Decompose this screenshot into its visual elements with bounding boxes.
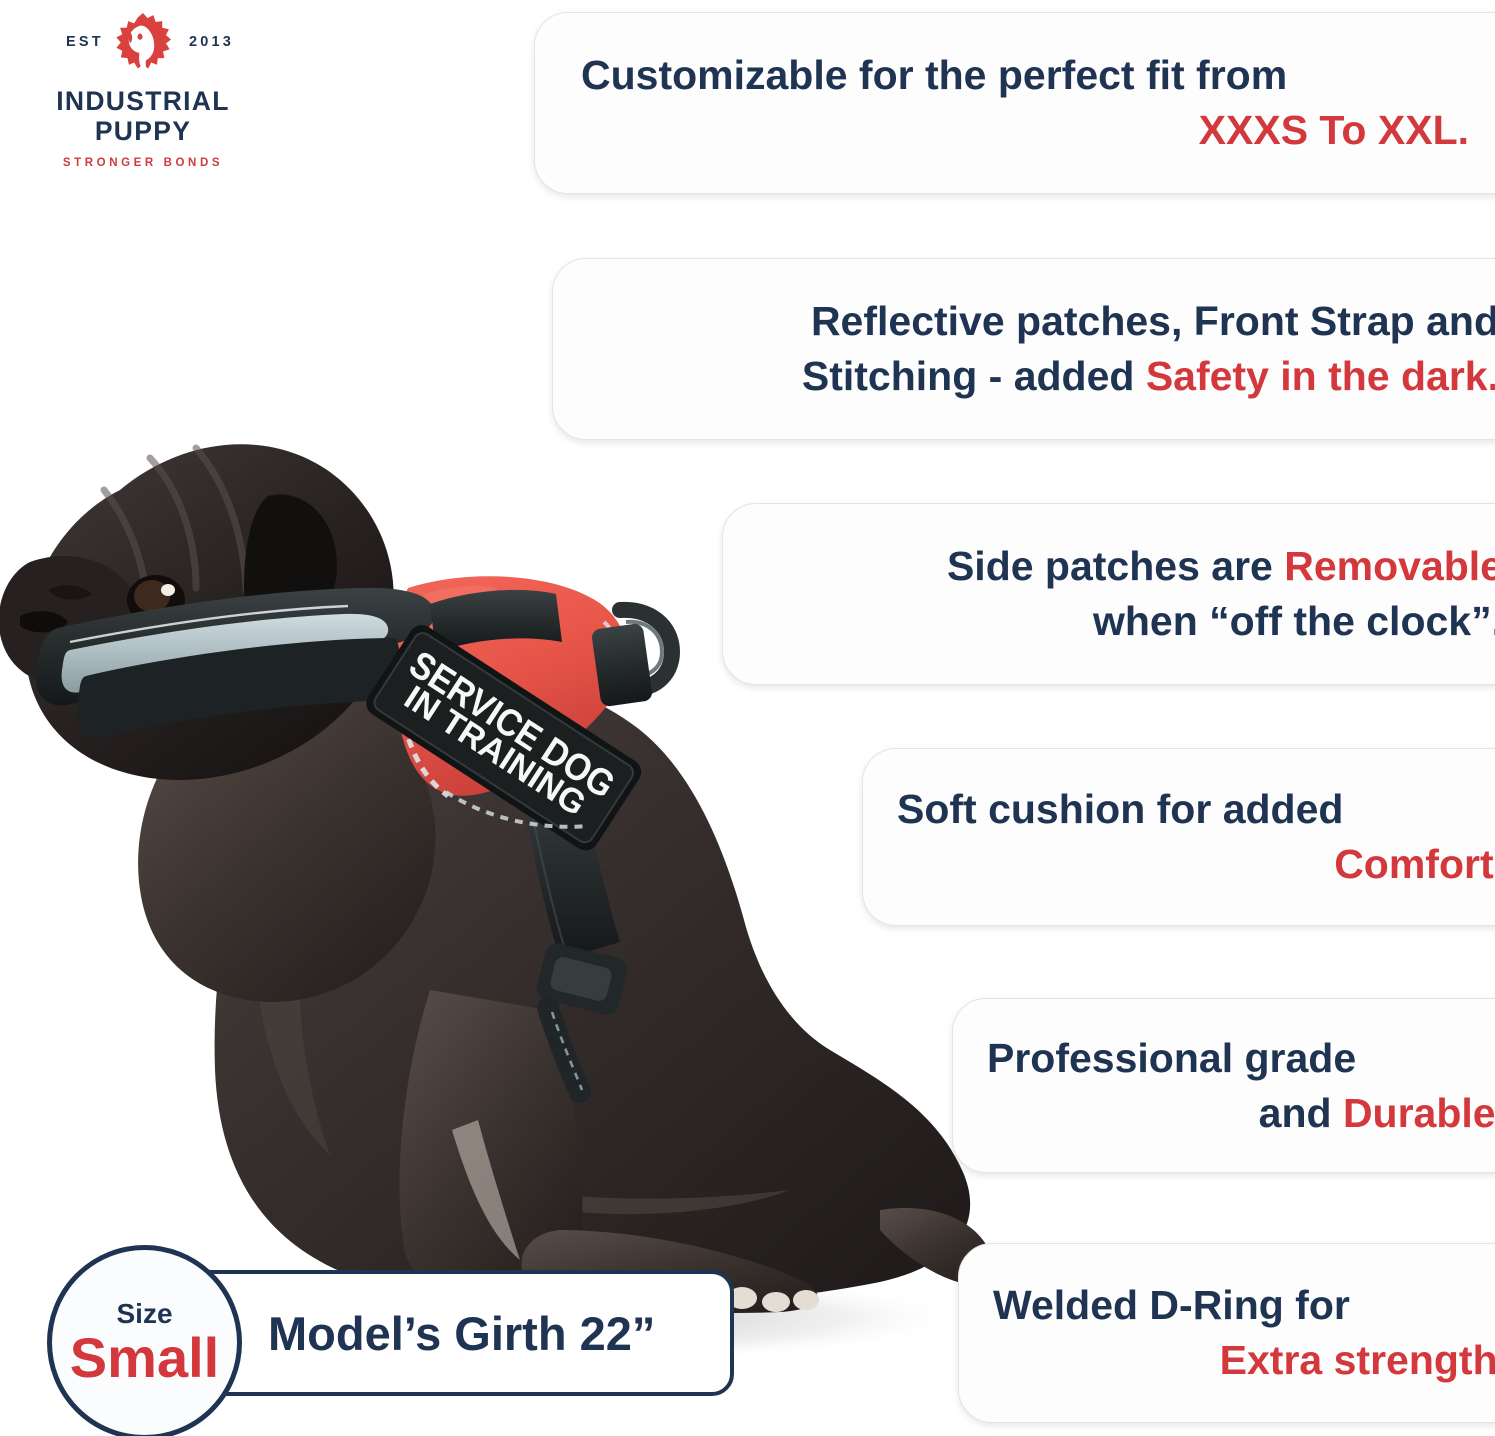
logo-name-line-1: INDUSTRIAL bbox=[18, 88, 268, 115]
callout-welded-d-ring: Welded D-Ring for Extra strength. bbox=[958, 1243, 1495, 1423]
callout-1-line-2: XXXS To XXL. bbox=[581, 103, 1487, 158]
callout-soft-cushion-comfort: Soft cushion for added Comfort. bbox=[862, 748, 1495, 926]
logo-est-label: EST bbox=[66, 34, 104, 50]
callout-2-line-1: Reflective patches, Front Strap and bbox=[591, 294, 1495, 349]
callout-5-line-1: Professional grade bbox=[987, 1031, 1495, 1086]
callout-reflective-safety: Reflective patches, Front Strap and Stit… bbox=[552, 258, 1495, 440]
callout-3-line-2: when “off the clock”. bbox=[761, 594, 1495, 649]
model-girth-box: Model’s Girth 22” bbox=[178, 1270, 734, 1396]
callout-1-line-1: Customizable for the perfect fit from bbox=[581, 48, 1487, 103]
logo-est-year: 2013 bbox=[189, 34, 234, 50]
callout-5-highlight: Durable. bbox=[1343, 1090, 1495, 1136]
callout-2-highlight: Safety in the dark. bbox=[1146, 353, 1495, 399]
callout-2-plain: Stitching - added bbox=[802, 353, 1146, 399]
logo-tagline: STRONGER BONDS bbox=[18, 157, 268, 169]
callout-5-plain: and bbox=[1259, 1090, 1343, 1136]
callout-3-line-1: Side patches are Removable bbox=[761, 539, 1495, 594]
size-badge-value: Small bbox=[70, 1330, 219, 1386]
callout-3-plain: Side patches are bbox=[947, 543, 1284, 589]
callout-professional-durable: Professional grade and Durable. bbox=[952, 998, 1495, 1173]
callout-1-highlight: XXXS To XXL. bbox=[1199, 107, 1469, 153]
size-badge-label: Size bbox=[116, 1300, 172, 1328]
callout-customizable-fit: Customizable for the perfect fit from XX… bbox=[534, 12, 1495, 194]
callout-4-highlight: Comfort. bbox=[1334, 841, 1495, 887]
gear-dog-silhouette-icon bbox=[106, 10, 180, 84]
callout-4-line-2: Comfort. bbox=[897, 837, 1495, 892]
size-badge: Size Small bbox=[47, 1245, 242, 1436]
callout-6-line-1: Welded D-Ring for bbox=[993, 1278, 1495, 1333]
logo-name-line-2: PUPPY bbox=[18, 118, 268, 145]
callout-4-line-1: Soft cushion for added bbox=[897, 782, 1495, 837]
infographic-canvas: EST 2013 INDUSTRIAL PUPPY STRONGER BONDS bbox=[0, 0, 1495, 1436]
callout-6-line-2: Extra strength. bbox=[993, 1333, 1495, 1388]
brand-logo: EST 2013 INDUSTRIAL PUPPY STRONGER BONDS bbox=[18, 8, 268, 176]
logo-top-row: EST 2013 bbox=[18, 8, 268, 88]
callout-3-highlight: Removable bbox=[1284, 543, 1495, 589]
callout-5-line-2: and Durable. bbox=[987, 1086, 1495, 1141]
callout-6-highlight: Extra strength. bbox=[1220, 1337, 1495, 1383]
callout-2-line-2: Stitching - added Safety in the dark. bbox=[591, 349, 1495, 404]
callout-removable-patches: Side patches are Removable when “off the… bbox=[722, 503, 1495, 685]
model-girth-text: Model’s Girth 22” bbox=[268, 1306, 655, 1361]
